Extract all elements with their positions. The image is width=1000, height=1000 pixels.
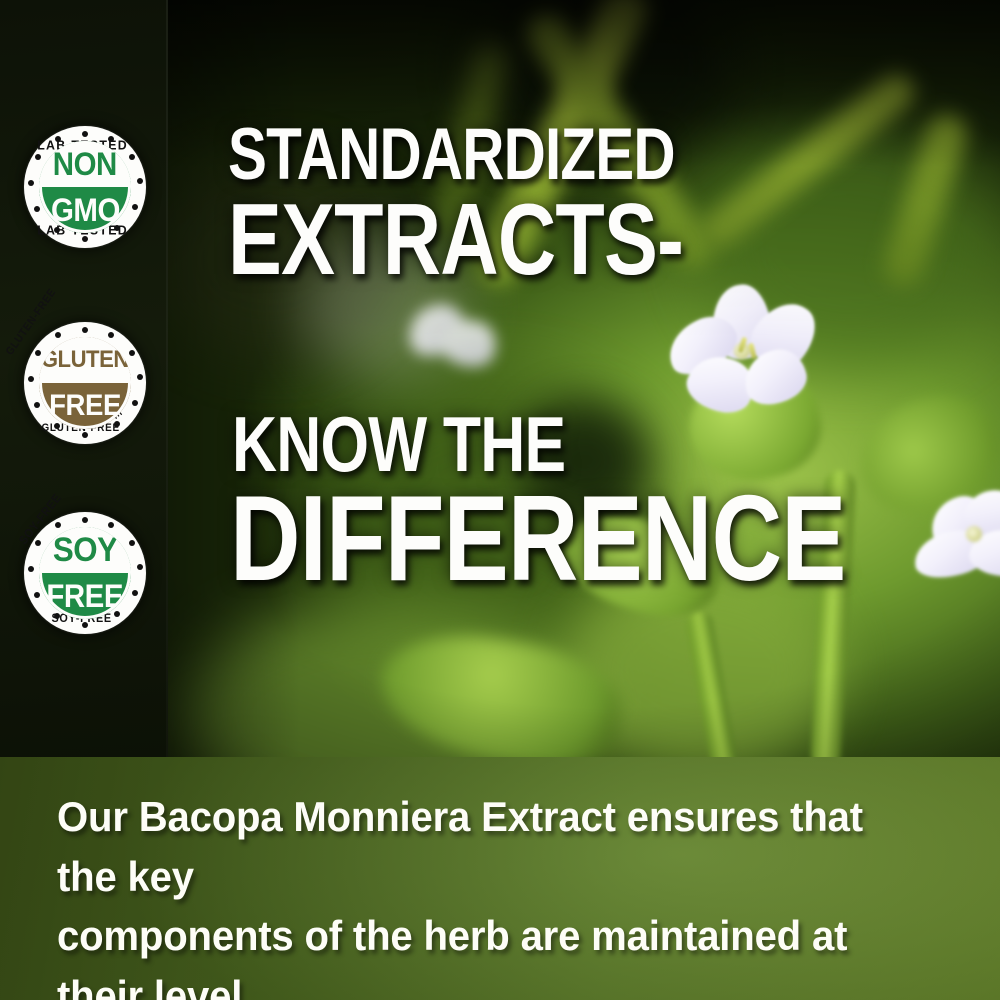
seal-line-2: FREE bbox=[47, 580, 124, 612]
seal-line-2: GMO bbox=[51, 194, 120, 226]
seal-upper-half: GLUTEN bbox=[39, 337, 131, 383]
seal-lower-half: GMO bbox=[39, 187, 131, 233]
seal-lower-half: FREE bbox=[39, 573, 131, 619]
seal-line-1: NON bbox=[53, 148, 117, 180]
seal-soy-free: SOY-FREE SOY-FREE SOY-FREE SOY FREE bbox=[24, 512, 146, 634]
headline-line-3: KNOW THE bbox=[232, 412, 565, 478]
seal-upper-half: NON bbox=[39, 141, 131, 187]
seal-non-gmo: LAB TESTED LAB TESTED NON GMO bbox=[24, 126, 146, 248]
seal-gluten-free: GLUTEN-FREE GLUTEN-FREE GLUTEN-FREE GLUT… bbox=[24, 322, 146, 444]
product-feature-banner: LAB TESTED LAB TESTED NON GMO bbox=[0, 0, 1000, 1000]
seal-upper-half: SOY bbox=[39, 527, 131, 573]
seal-lower-half: FREE bbox=[39, 383, 131, 429]
seal-inner-disc: SOY FREE bbox=[39, 527, 131, 619]
caption-text: Our Bacopa Monniera Extract ensures that… bbox=[57, 787, 957, 1000]
caption-band: Our Bacopa Monniera Extract ensures that… bbox=[0, 757, 1000, 1000]
seal-line-2: FREE bbox=[49, 391, 121, 421]
headline-line-4: DIFFERENCE bbox=[230, 487, 846, 589]
headline-line-2: EXTRACTS- bbox=[228, 198, 683, 283]
caption-line-1: Our Bacopa Monniera Extract ensures that… bbox=[57, 787, 917, 906]
seal-inner-disc: GLUTEN FREE bbox=[39, 337, 131, 429]
seal-line-1: SOY bbox=[53, 533, 118, 567]
seal-inner-disc: NON GMO bbox=[39, 141, 131, 233]
seal-line-1: GLUTEN bbox=[41, 348, 129, 372]
headline-line-1: STANDARDIZED bbox=[228, 124, 675, 185]
caption-line-2: components of the herb are maintained at… bbox=[57, 906, 917, 1000]
